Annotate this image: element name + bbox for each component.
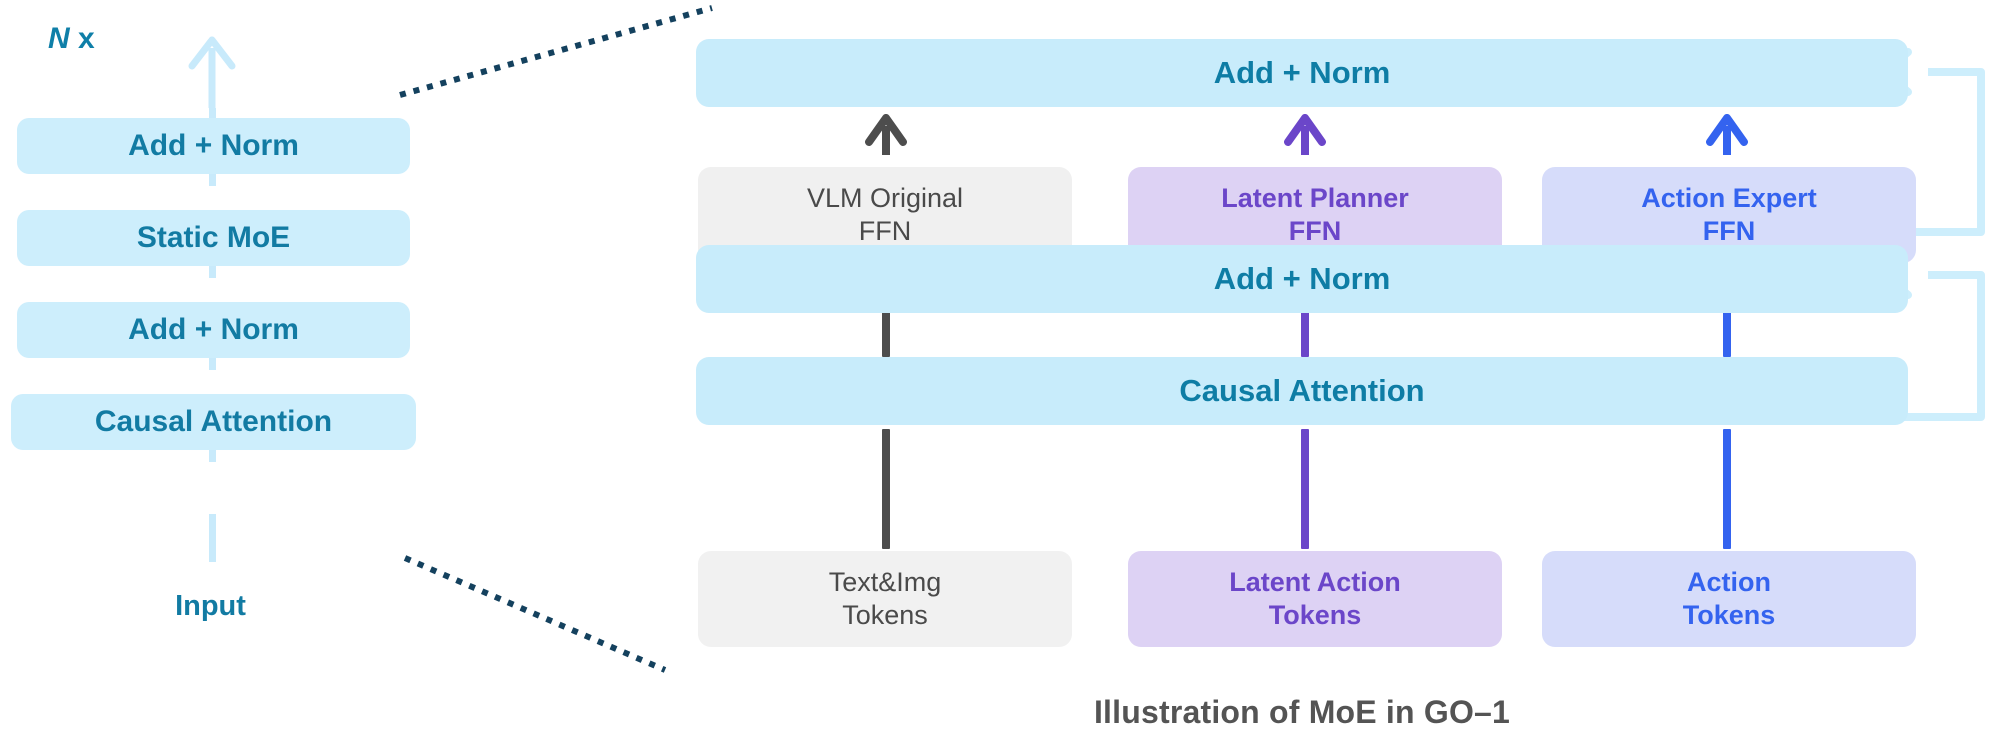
left-block-add-norm-top[interactable]: Add + Norm	[17, 118, 410, 174]
repeat-count-x: x	[70, 22, 95, 55]
right-bar-causal-attention[interactable]: Causal Attention	[696, 357, 1908, 425]
figure-caption: Illustration of MoE in GO–1	[696, 694, 1908, 731]
stem-action-midbar-to-attention	[1723, 315, 1731, 357]
moe-architecture-figure: N x Add + Norm Static MoE Add + Norm Cau…	[0, 0, 2014, 748]
left-input-label: Input	[113, 590, 308, 623]
arrow-vlm-ffn-to-addnorm	[869, 118, 903, 155]
dotted-connector-top	[400, 8, 712, 95]
token-box-text-img[interactable]: Text&Img Tokens	[698, 551, 1072, 647]
left-block-causal-attention[interactable]: Causal Attention	[11, 394, 416, 450]
arrow-latent-planner-ffn-to-addnorm	[1288, 118, 1322, 155]
right-bar-add-norm-top[interactable]: Add + Norm	[696, 39, 1908, 107]
left-block-static-moe[interactable]: Static MoE	[17, 210, 410, 266]
stem-action-attention-to-tokens	[1723, 429, 1731, 549]
left-spine-segment-6	[209, 514, 216, 562]
left-flow-arrow-icon	[192, 40, 232, 108]
stem-vlm-midbar-to-attention	[882, 315, 890, 357]
stem-vlm-attention-to-tokens	[882, 429, 890, 549]
arrow-action-expert-ffn-to-addnorm	[1710, 118, 1744, 155]
token-box-latent-action[interactable]: Latent Action Tokens	[1128, 551, 1502, 647]
stem-latent-midbar-to-attention	[1301, 315, 1309, 357]
right-bar-add-norm-mid[interactable]: Add + Norm	[696, 245, 1908, 313]
left-block-add-norm-bottom[interactable]: Add + Norm	[17, 302, 410, 358]
repeat-count-label: N x	[48, 22, 95, 56]
stem-latent-attention-to-tokens	[1301, 429, 1309, 549]
dotted-connector-bottom	[405, 558, 665, 670]
repeat-count-n: N	[48, 22, 70, 55]
token-box-action[interactable]: Action Tokens	[1542, 551, 1916, 647]
